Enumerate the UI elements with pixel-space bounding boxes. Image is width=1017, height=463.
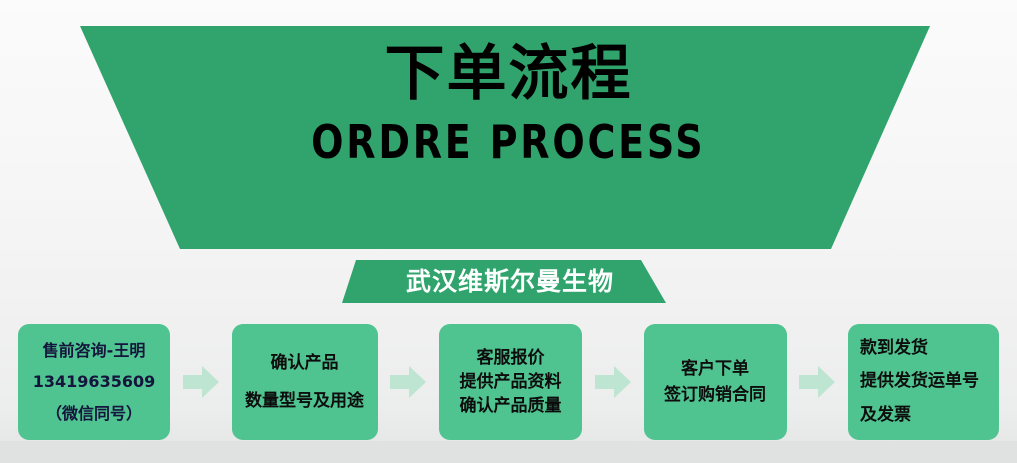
flow-arrow-3-icon [594, 362, 632, 402]
process-step-confirm-product[interactable]: 确认产品 数量型号及用途 [232, 324, 378, 440]
step-line: 售前咨询-王明 [43, 335, 146, 366]
step-line: 确认产品 [271, 344, 339, 382]
step-line: 13419635609 [33, 366, 155, 397]
step-line: 提供产品资料 [460, 370, 562, 394]
step-line: （微信同号） [46, 398, 142, 429]
process-step-pre-sales-contact[interactable]: 售前咨询-王明 13419635609 （微信同号） [18, 324, 170, 440]
step-line: 及发票 [860, 399, 911, 432]
hero-banner: 下单流程 ORDRE PROCESS [0, 0, 1017, 252]
bottom-band [0, 441, 1017, 463]
hero-trapezoid-shape [0, 0, 1017, 252]
order-process-infographic: 下单流程 ORDRE PROCESS 武汉维斯尔曼生物 售前咨询-王明 1341… [0, 0, 1017, 463]
step-line: 提供发货运单号 [860, 365, 979, 398]
step-line: 客服报价 [477, 346, 545, 370]
flow-arrow-4-icon [798, 362, 836, 402]
step-line: 款到发货 [860, 332, 928, 365]
company-ribbon: 武汉维斯尔曼生物 [330, 256, 690, 308]
process-step-place-order[interactable]: 客户下单 签订购销合同 [644, 324, 787, 440]
step-line: 客户下单 [681, 356, 749, 382]
step-line: 数量型号及用途 [245, 382, 364, 420]
step-line: 确认产品质量 [460, 394, 562, 418]
process-step-quotation[interactable]: 客服报价 提供产品资料 确认产品质量 [439, 324, 582, 440]
step-line: 签订购销合同 [664, 382, 766, 408]
process-flow: 售前咨询-王明 13419635609 （微信同号） 确认产品 数量型号及用途 … [18, 322, 999, 442]
process-step-shipping[interactable]: 款到发货 提供发货运单号 及发票 [848, 324, 999, 440]
company-ribbon-shape [330, 256, 690, 308]
flow-arrow-1-icon [182, 362, 220, 402]
flow-arrow-2-icon [389, 362, 427, 402]
